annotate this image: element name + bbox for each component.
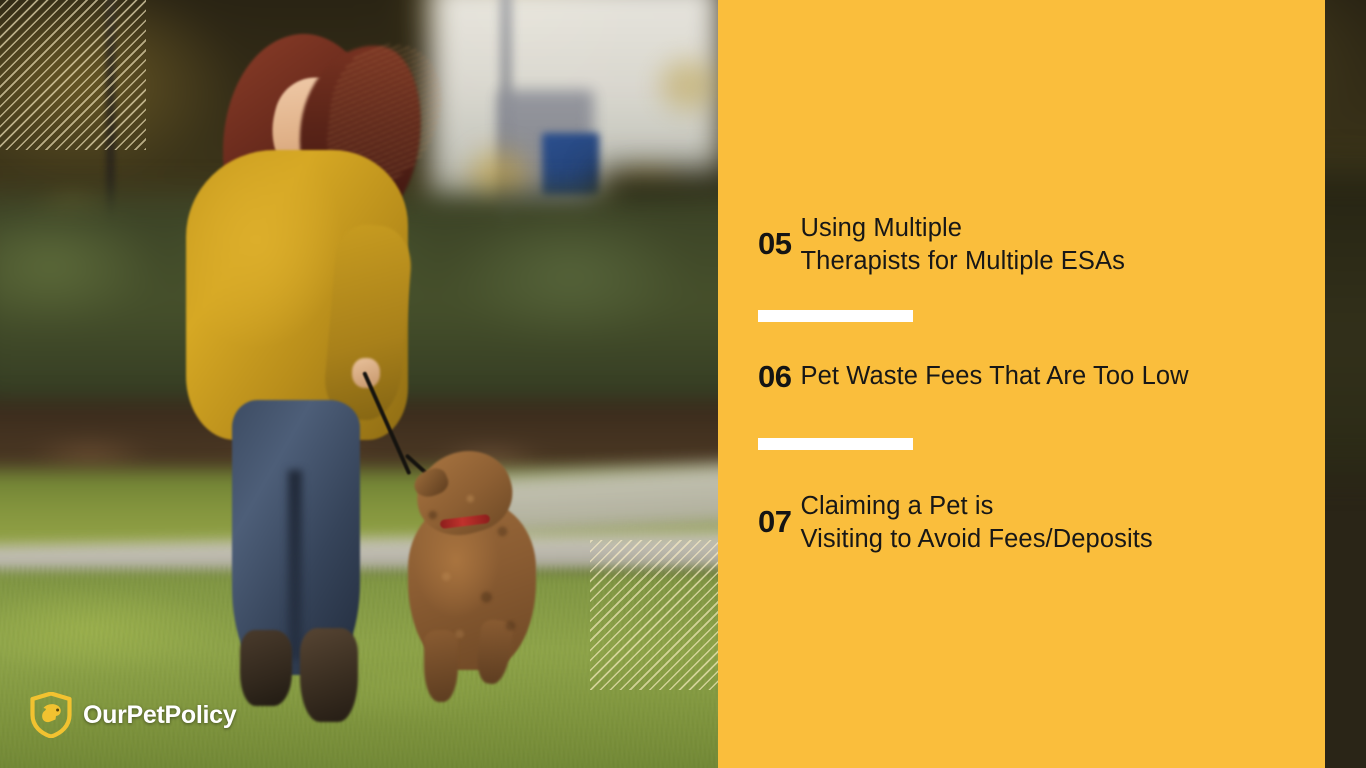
shield-dog-icon: [30, 692, 72, 738]
list-divider: [758, 310, 913, 322]
brand-logo-text: OurPetPolicy: [83, 701, 236, 730]
list-item-number: 06: [758, 361, 791, 392]
list-item-label: Using Multiple Therapists for Multiple E…: [800, 212, 1125, 277]
brand-logo[interactable]: OurPetPolicy: [30, 692, 236, 738]
photo-blue-sign: [542, 133, 599, 195]
photo-dog-fur-texture: [406, 470, 540, 675]
list-item[interactable]: 07 Claiming a Pet is Visiting to Avoid F…: [758, 490, 1153, 555]
list-item-number: 07: [758, 506, 791, 537]
numbered-list: 05 Using Multiple Therapists for Multipl…: [758, 0, 1298, 768]
woman-boot-left: [240, 630, 292, 706]
list-divider: [758, 438, 913, 450]
list-item[interactable]: 06 Pet Waste Fees That Are Too Low: [758, 360, 1189, 393]
slide-canvas: 05 Using Multiple Therapists for Multipl…: [0, 0, 1366, 768]
list-item-label: Claiming a Pet is Visiting to Avoid Fees…: [800, 490, 1152, 555]
list-item-number: 05: [758, 228, 791, 259]
photo-bokeh: [660, 60, 718, 110]
woman-leg-shadow: [288, 470, 302, 660]
list-item-label: Pet Waste Fees That Are Too Low: [800, 360, 1188, 393]
list-item[interactable]: 05 Using Multiple Therapists for Multipl…: [758, 212, 1125, 277]
woman-boot-right: [300, 628, 358, 722]
